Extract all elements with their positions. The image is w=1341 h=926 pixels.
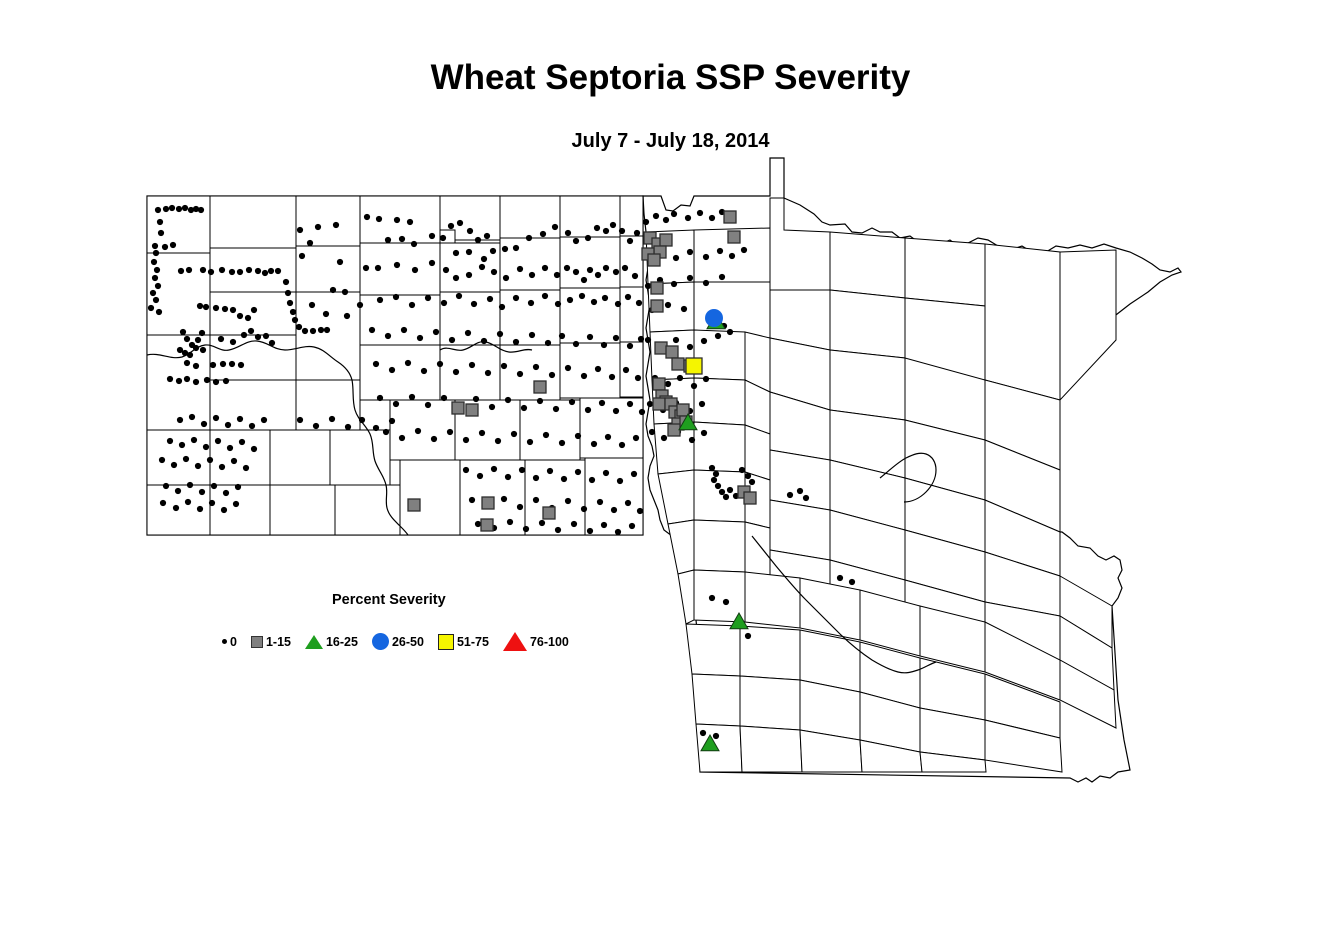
map-point-0[interactable] (489, 404, 495, 410)
map-point-0[interactable] (627, 343, 633, 349)
map-point-0[interactable] (727, 487, 733, 493)
map-point-0[interactable] (787, 492, 793, 498)
map-point-0[interactable] (469, 362, 475, 368)
map-point-0[interactable] (575, 469, 581, 475)
map-point-0[interactable] (463, 437, 469, 443)
map-point-0[interactable] (377, 395, 383, 401)
map-point-0[interactable] (302, 328, 308, 334)
map-point-0[interactable] (309, 302, 315, 308)
map-point-0[interactable] (717, 248, 723, 254)
map-point-0[interactable] (619, 442, 625, 448)
map-point-1-15[interactable] (408, 499, 420, 511)
map-point-0[interactable] (385, 333, 391, 339)
map-point-0[interactable] (613, 408, 619, 414)
map-point-0[interactable] (162, 244, 168, 250)
map-point-1-15[interactable] (452, 402, 464, 414)
map-point-1-15[interactable] (744, 492, 756, 504)
map-point-0[interactable] (595, 366, 601, 372)
map-point-0[interactable] (699, 401, 705, 407)
map-point-0[interactable] (193, 379, 199, 385)
map-point-0[interactable] (182, 205, 188, 211)
map-point-0[interactable] (564, 265, 570, 271)
map-point-0[interactable] (213, 305, 219, 311)
map-point-0[interactable] (243, 465, 249, 471)
map-point-0[interactable] (687, 344, 693, 350)
map-point-0[interactable] (377, 297, 383, 303)
map-point-0[interactable] (553, 406, 559, 412)
map-point-0[interactable] (373, 425, 379, 431)
map-point-0[interactable] (613, 335, 619, 341)
map-point-0[interactable] (376, 216, 382, 222)
map-point-0[interactable] (200, 347, 206, 353)
map-point-0[interactable] (225, 422, 231, 428)
map-point-0[interactable] (158, 230, 164, 236)
map-point-0[interactable] (469, 497, 475, 503)
map-point-0[interactable] (565, 365, 571, 371)
map-point-0[interactable] (394, 217, 400, 223)
map-canvas[interactable] (0, 0, 1341, 926)
map-point-0[interactable] (373, 361, 379, 367)
map-point-0[interactable] (440, 235, 446, 241)
map-point-0[interactable] (211, 483, 217, 489)
map-point-0[interactable] (292, 317, 298, 323)
map-point-0[interactable] (333, 222, 339, 228)
map-point-0[interactable] (491, 269, 497, 275)
legend-item-3[interactable]: 26-50 (372, 633, 424, 650)
map-point-0[interactable] (601, 342, 607, 348)
map-point-0[interactable] (479, 430, 485, 436)
map-point-0[interactable] (401, 327, 407, 333)
map-point-0[interactable] (412, 267, 418, 273)
map-point-0[interactable] (533, 364, 539, 370)
map-point-0[interactable] (235, 484, 241, 490)
map-point-0[interactable] (803, 495, 809, 501)
map-point-0[interactable] (175, 488, 181, 494)
map-point-0[interactable] (261, 417, 267, 423)
map-point-1-15[interactable] (651, 300, 663, 312)
map-point-0[interactable] (199, 330, 205, 336)
map-point-0[interactable] (185, 499, 191, 505)
map-point-0[interactable] (629, 523, 635, 529)
map-point-0[interactable] (634, 230, 640, 236)
map-point-0[interactable] (453, 250, 459, 256)
map-point-0[interactable] (230, 307, 236, 313)
map-point-0[interactable] (625, 294, 631, 300)
map-point-0[interactable] (193, 363, 199, 369)
map-point-0[interactable] (425, 402, 431, 408)
map-point-0[interactable] (635, 375, 641, 381)
map-point-0[interactable] (180, 329, 186, 335)
map-point-0[interactable] (219, 464, 225, 470)
map-point-0[interactable] (453, 369, 459, 375)
map-point-0[interactable] (199, 489, 205, 495)
map-point-0[interactable] (179, 442, 185, 448)
map-point-0[interactable] (394, 262, 400, 268)
map-point-0[interactable] (195, 463, 201, 469)
map-point-0[interactable] (573, 341, 579, 347)
map-point-0[interactable] (713, 733, 719, 739)
map-point-0[interactable] (411, 241, 417, 247)
map-point-0[interactable] (673, 337, 679, 343)
map-point-0[interactable] (565, 230, 571, 236)
map-point-0[interactable] (200, 267, 206, 273)
map-point-0[interactable] (153, 250, 159, 256)
map-point-0[interactable] (547, 468, 553, 474)
map-point-0[interactable] (711, 477, 717, 483)
map-point-0[interactable] (184, 336, 190, 342)
map-point-1-15[interactable] (466, 404, 478, 416)
map-point-0[interactable] (523, 526, 529, 532)
map-point-0[interactable] (157, 219, 163, 225)
map-point-0[interactable] (505, 397, 511, 403)
map-point-0[interactable] (383, 429, 389, 435)
map-point-1-15[interactable] (653, 378, 665, 390)
map-point-0[interactable] (687, 249, 693, 255)
map-point-0[interactable] (197, 303, 203, 309)
map-point-0[interactable] (681, 306, 687, 312)
map-point-0[interactable] (237, 313, 243, 319)
map-point-0[interactable] (324, 327, 330, 333)
map-point-0[interactable] (849, 579, 855, 585)
map-point-0[interactable] (605, 434, 611, 440)
map-point-0[interactable] (431, 436, 437, 442)
map-point-0[interactable] (497, 331, 503, 337)
map-point-0[interactable] (219, 267, 225, 273)
map-point-0[interactable] (481, 256, 487, 262)
map-point-0[interactable] (517, 504, 523, 510)
map-point-0[interactable] (159, 457, 165, 463)
map-point-0[interactable] (443, 267, 449, 273)
map-point-0[interactable] (627, 238, 633, 244)
map-point-0[interactable] (526, 235, 532, 241)
legend-item-1[interactable]: 1-15 (251, 635, 291, 649)
map-point-0[interactable] (262, 270, 268, 276)
map-point-0[interactable] (213, 415, 219, 421)
map-point-1-15[interactable] (482, 497, 494, 509)
map-point-0[interactable] (213, 379, 219, 385)
map-point-0[interactable] (176, 206, 182, 212)
map-point-0[interactable] (323, 311, 329, 317)
legend-item-2[interactable]: 16-25 (305, 635, 358, 649)
map-point-0[interactable] (507, 519, 513, 525)
map-point-0[interactable] (503, 275, 509, 281)
map-point-0[interactable] (609, 374, 615, 380)
map-point-0[interactable] (163, 206, 169, 212)
map-point-0[interactable] (559, 440, 565, 446)
map-point-0[interactable] (359, 417, 365, 423)
map-point-0[interactable] (647, 401, 653, 407)
map-point-0[interactable] (357, 302, 363, 308)
map-point-0[interactable] (448, 223, 454, 229)
map-point-0[interactable] (581, 506, 587, 512)
map-point-0[interactable] (433, 329, 439, 335)
map-point-0[interactable] (222, 306, 228, 312)
map-point-0[interactable] (645, 337, 651, 343)
map-point-0[interactable] (160, 500, 166, 506)
map-point-0[interactable] (573, 269, 579, 275)
map-point-0[interactable] (248, 328, 254, 334)
map-point-1-15[interactable] (728, 231, 740, 243)
map-point-0[interactable] (591, 299, 597, 305)
map-point-1-15[interactable] (666, 346, 678, 358)
map-point-0[interactable] (701, 338, 707, 344)
map-point-0[interactable] (407, 219, 413, 225)
map-point-0[interactable] (238, 362, 244, 368)
map-point-0[interactable] (290, 309, 296, 315)
map-point-0[interactable] (203, 444, 209, 450)
map-point-0[interactable] (155, 207, 161, 213)
map-point-0[interactable] (345, 424, 351, 430)
map-point-0[interactable] (471, 301, 477, 307)
map-point-0[interactable] (513, 245, 519, 251)
map-point-0[interactable] (299, 253, 305, 259)
map-point-0[interactable] (671, 281, 677, 287)
map-point-0[interactable] (409, 394, 415, 400)
map-point-0[interactable] (739, 467, 745, 473)
map-point-0[interactable] (490, 248, 496, 254)
map-point-0[interactable] (517, 371, 523, 377)
map-point-0[interactable] (231, 458, 237, 464)
map-point-0[interactable] (415, 428, 421, 434)
map-point-0[interactable] (703, 280, 709, 286)
map-point-0[interactable] (220, 361, 226, 367)
map-point-0[interactable] (591, 441, 597, 447)
map-point-0[interactable] (184, 360, 190, 366)
map-point-0[interactable] (555, 301, 561, 307)
map-point-0[interactable] (385, 237, 391, 243)
map-point-0[interactable] (399, 435, 405, 441)
map-point-0[interactable] (537, 398, 543, 404)
map-point-0[interactable] (169, 205, 175, 211)
map-point-0[interactable] (183, 456, 189, 462)
map-point-0[interactable] (187, 352, 193, 358)
map-point-0[interactable] (543, 432, 549, 438)
map-point-0[interactable] (549, 372, 555, 378)
map-point-0[interactable] (255, 268, 261, 274)
map-point-0[interactable] (594, 225, 600, 231)
map-point-0[interactable] (208, 269, 214, 275)
map-point-0[interactable] (587, 267, 593, 273)
map-point-0[interactable] (701, 430, 707, 436)
map-point-0[interactable] (153, 297, 159, 303)
map-point-0[interactable] (633, 435, 639, 441)
map-point-0[interactable] (283, 279, 289, 285)
map-point-0[interactable] (246, 267, 252, 273)
map-point-0[interactable] (697, 210, 703, 216)
map-point-0[interactable] (569, 399, 575, 405)
map-point-0[interactable] (700, 730, 706, 736)
map-point-0[interactable] (230, 339, 236, 345)
map-point-0[interactable] (723, 599, 729, 605)
map-point-0[interactable] (191, 437, 197, 443)
map-point-0[interactable] (187, 482, 193, 488)
map-point-0[interactable] (237, 416, 243, 422)
map-point-0[interactable] (429, 233, 435, 239)
map-point-0[interactable] (519, 467, 525, 473)
map-point-0[interactable] (587, 334, 593, 340)
map-point-0[interactable] (178, 268, 184, 274)
map-point-0[interactable] (421, 368, 427, 374)
map-point-0[interactable] (477, 473, 483, 479)
map-point-0[interactable] (215, 438, 221, 444)
map-point-0[interactable] (542, 293, 548, 299)
map-point-0[interactable] (622, 265, 628, 271)
legend-item-4[interactable]: 51-75 (438, 634, 489, 650)
map-point-1-15[interactable] (724, 211, 736, 223)
map-point-0[interactable] (639, 409, 645, 415)
map-point-1-15[interactable] (677, 404, 689, 416)
map-point-0[interactable] (485, 370, 491, 376)
map-point-1-15[interactable] (672, 358, 684, 370)
map-point-0[interactable] (611, 507, 617, 513)
map-point-0[interactable] (307, 240, 313, 246)
map-point-26-50[interactable] (705, 309, 723, 327)
map-point-0[interactable] (177, 417, 183, 423)
map-point-0[interactable] (287, 300, 293, 306)
map-point-0[interactable] (495, 438, 501, 444)
map-point-0[interactable] (653, 213, 659, 219)
map-point-0[interactable] (533, 497, 539, 503)
map-point-0[interactable] (741, 247, 747, 253)
map-point-0[interactable] (703, 376, 709, 382)
map-point-0[interactable] (637, 508, 643, 514)
map-point-0[interactable] (565, 498, 571, 504)
map-point-0[interactable] (559, 333, 565, 339)
map-point-0[interactable] (601, 522, 607, 528)
map-point-0[interactable] (465, 330, 471, 336)
map-point-0[interactable] (715, 483, 721, 489)
map-point-0[interactable] (597, 499, 603, 505)
map-point-0[interactable] (575, 433, 581, 439)
map-point-0[interactable] (587, 528, 593, 534)
map-point-0[interactable] (491, 466, 497, 472)
map-point-0[interactable] (456, 293, 462, 299)
map-point-0[interactable] (632, 273, 638, 279)
map-point-0[interactable] (665, 302, 671, 308)
map-point-0[interactable] (389, 418, 395, 424)
map-point-0[interactable] (484, 233, 490, 239)
map-point-0[interactable] (615, 301, 621, 307)
map-point-0[interactable] (156, 309, 162, 315)
map-point-0[interactable] (152, 275, 158, 281)
map-point-0[interactable] (521, 405, 527, 411)
map-point-0[interactable] (727, 329, 733, 335)
map-point-1-15[interactable] (655, 342, 667, 354)
map-point-0[interactable] (499, 304, 505, 310)
map-point-0[interactable] (540, 231, 546, 237)
map-point-0[interactable] (447, 429, 453, 435)
map-point-0[interactable] (663, 217, 669, 223)
map-point-0[interactable] (218, 336, 224, 342)
map-point-0[interactable] (197, 506, 203, 512)
map-point-0[interactable] (552, 224, 558, 230)
map-point-0[interactable] (449, 337, 455, 343)
map-point-51-75[interactable] (686, 358, 702, 374)
map-point-0[interactable] (645, 283, 651, 289)
map-point-0[interactable] (481, 338, 487, 344)
map-point-0[interactable] (555, 527, 561, 533)
map-point-0[interactable] (233, 501, 239, 507)
map-point-0[interactable] (313, 423, 319, 429)
map-point-0[interactable] (170, 242, 176, 248)
map-point-0[interactable] (342, 289, 348, 295)
map-point-0[interactable] (285, 290, 291, 296)
map-point-0[interactable] (528, 300, 534, 306)
map-point-0[interactable] (204, 377, 210, 383)
map-point-0[interactable] (505, 474, 511, 480)
map-point-1-15[interactable] (481, 519, 493, 531)
map-point-0[interactable] (709, 595, 715, 601)
map-point-0[interactable] (719, 489, 725, 495)
map-point-0[interactable] (466, 249, 472, 255)
map-point-0[interactable] (625, 500, 631, 506)
map-point-0[interactable] (363, 265, 369, 271)
map-point-0[interactable] (184, 376, 190, 382)
map-point-0[interactable] (665, 381, 671, 387)
map-point-0[interactable] (529, 272, 535, 278)
map-point-1-15[interactable] (660, 234, 672, 246)
map-point-0[interactable] (389, 367, 395, 373)
map-point-0[interactable] (617, 478, 623, 484)
map-point-0[interactable] (155, 283, 161, 289)
map-point-0[interactable] (263, 333, 269, 339)
map-point-0[interactable] (703, 254, 709, 260)
map-point-0[interactable] (613, 269, 619, 275)
map-point-1-15[interactable] (668, 424, 680, 436)
map-point-0[interactable] (245, 315, 251, 321)
map-point-0[interactable] (745, 473, 751, 479)
map-point-0[interactable] (296, 324, 302, 330)
map-point-1-15[interactable] (648, 254, 660, 266)
map-point-0[interactable] (148, 305, 154, 311)
map-point-0[interactable] (429, 260, 435, 266)
map-point-0[interactable] (599, 400, 605, 406)
map-point-0[interactable] (567, 297, 573, 303)
map-point-0[interactable] (709, 215, 715, 221)
map-point-0[interactable] (649, 429, 655, 435)
map-point-0[interactable] (227, 445, 233, 451)
map-point-0[interactable] (210, 362, 216, 368)
map-point-0[interactable] (241, 332, 247, 338)
map-point-0[interactable] (176, 378, 182, 384)
map-point-0[interactable] (589, 477, 595, 483)
map-point-0[interactable] (615, 529, 621, 535)
map-point-0[interactable] (603, 470, 609, 476)
map-point-1-15[interactable] (653, 398, 665, 410)
map-point-0[interactable] (749, 479, 755, 485)
map-point-0[interactable] (581, 373, 587, 379)
map-point-0[interactable] (221, 507, 227, 513)
map-point-0[interactable] (501, 363, 507, 369)
legend-item-5[interactable]: 76-100 (503, 632, 569, 651)
map-point-0[interactable] (501, 496, 507, 502)
map-point-0[interactable] (623, 367, 629, 373)
map-point-0[interactable] (154, 267, 160, 273)
map-point-0[interactable] (297, 227, 303, 233)
map-point-0[interactable] (229, 269, 235, 275)
map-point-0[interactable] (186, 267, 192, 273)
map-point-0[interactable] (671, 211, 677, 217)
map-point-0[interactable] (513, 295, 519, 301)
map-point-0[interactable] (223, 490, 229, 496)
map-point-0[interactable] (529, 332, 535, 338)
map-point-0[interactable] (689, 437, 695, 443)
map-point-0[interactable] (513, 339, 519, 345)
map-point-0[interactable] (685, 215, 691, 221)
map-point-0[interactable] (475, 237, 481, 243)
map-point-0[interactable] (251, 307, 257, 313)
map-point-0[interactable] (150, 290, 156, 296)
